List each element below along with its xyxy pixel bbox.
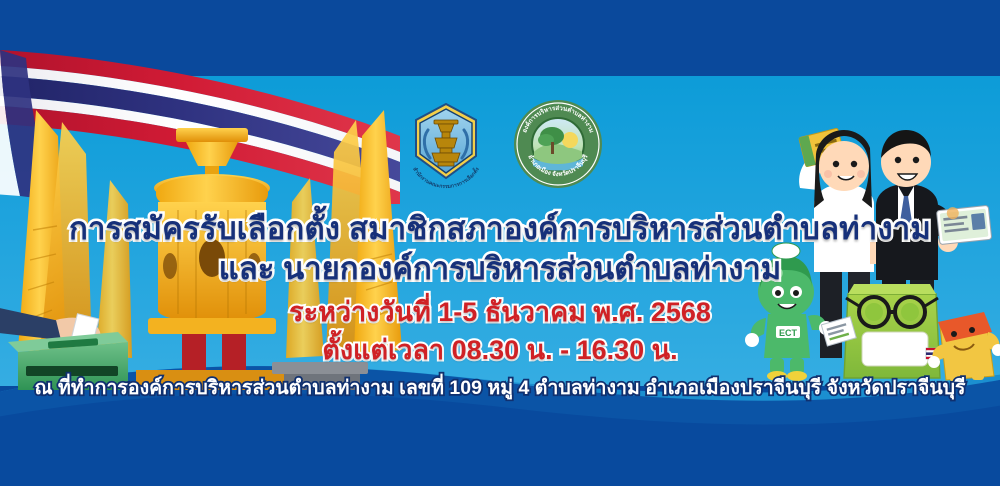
democracy-monument-illustration <box>0 70 420 390</box>
mascot-label: ECT <box>779 328 798 338</box>
sao-thangam-seal: องค์การบริหารส่วนตำบลท่างาม อำเภอเมือง จ… <box>510 96 606 197</box>
emblem-group: สำนักงานคณะกรรมการการเลือกตั้ง <box>398 96 598 194</box>
green-ballot-box-icon <box>8 332 128 390</box>
ect-emblem: สำนักงานคณะกรรมการการเลือกตั้ง <box>398 96 494 197</box>
characters-illustration: ECT <box>740 96 1000 396</box>
monument-center <box>136 128 288 390</box>
plinth <box>272 362 368 374</box>
election-announcement-banner: สำนักงานคณะกรรมการการเลือกตั้ง <box>0 0 1000 486</box>
